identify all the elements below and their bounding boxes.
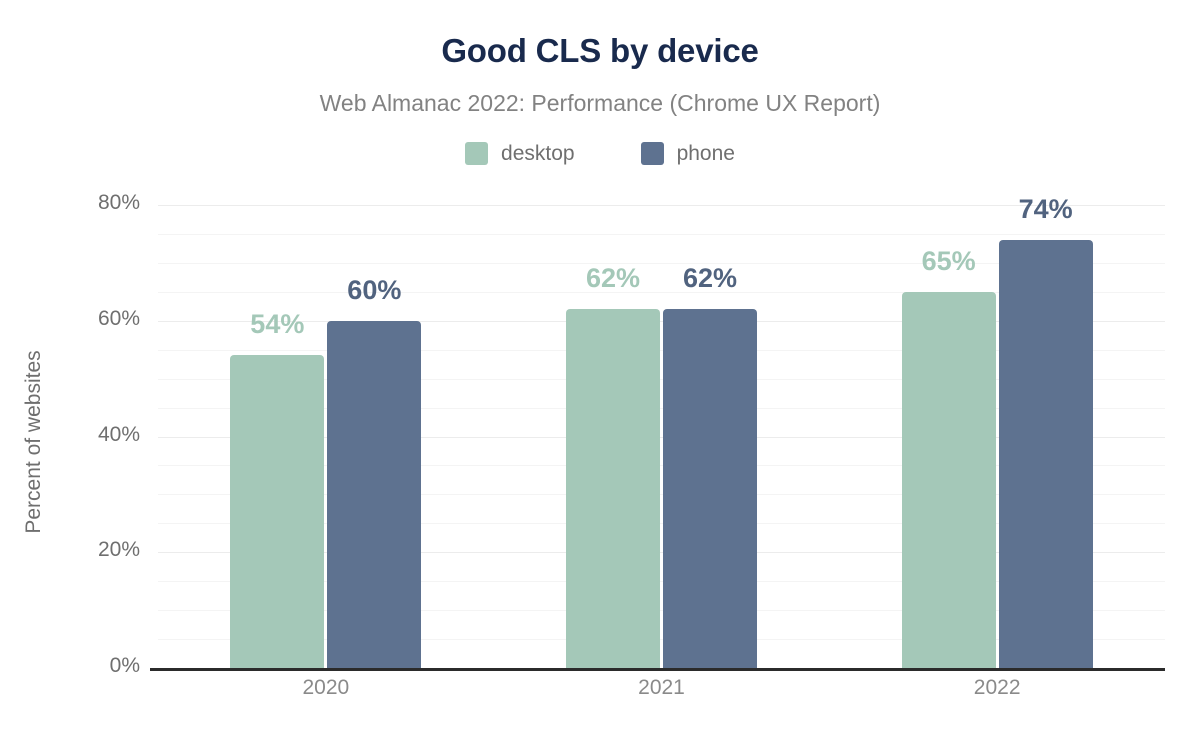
legend-item-phone[interactable]: phone <box>641 142 735 165</box>
x-axis-line <box>150 668 1165 671</box>
bar-value-label-desktop-2022: 65% <box>889 246 1009 277</box>
y-tick-label: 40% <box>20 423 140 447</box>
plot-area: 54%60%62%62%65%74% <box>158 205 1165 668</box>
chart-title: Good CLS by device <box>0 32 1200 70</box>
bar-desktop-2022[interactable] <box>902 292 996 668</box>
y-tick-label: 80% <box>20 191 140 215</box>
bar-phone-2020[interactable] <box>327 321 421 668</box>
y-tick-label: 20% <box>20 538 140 562</box>
bar-value-label-phone-2020: 60% <box>314 275 434 306</box>
bar-value-label-phone-2022: 74% <box>986 194 1106 225</box>
bar-phone-2021[interactable] <box>663 309 757 668</box>
bar-desktop-2021[interactable] <box>566 309 660 668</box>
legend-label-desktop: desktop <box>501 143 575 164</box>
y-tick-label: 0% <box>20 654 140 678</box>
legend-label-phone: phone <box>677 143 735 164</box>
bar-value-label-phone-2021: 62% <box>650 263 770 294</box>
legend-item-desktop[interactable]: desktop <box>465 142 575 165</box>
x-tick-label: 2022 <box>917 676 1077 700</box>
bar-desktop-2020[interactable] <box>230 355 324 668</box>
legend-swatch-desktop <box>465 142 488 165</box>
bar-value-label-desktop-2020: 54% <box>217 309 337 340</box>
bar-phone-2022[interactable] <box>999 240 1093 668</box>
chart-legend: desktop phone <box>0 142 1200 165</box>
gridline-minor <box>158 234 1165 235</box>
legend-swatch-phone <box>641 142 664 165</box>
x-tick-label: 2021 <box>582 676 742 700</box>
chart-subtitle: Web Almanac 2022: Performance (Chrome UX… <box>0 90 1200 117</box>
y-tick-label: 60% <box>20 307 140 331</box>
x-tick-label: 2020 <box>246 676 406 700</box>
chart-figure: Good CLS by device Web Almanac 2022: Per… <box>0 0 1200 742</box>
